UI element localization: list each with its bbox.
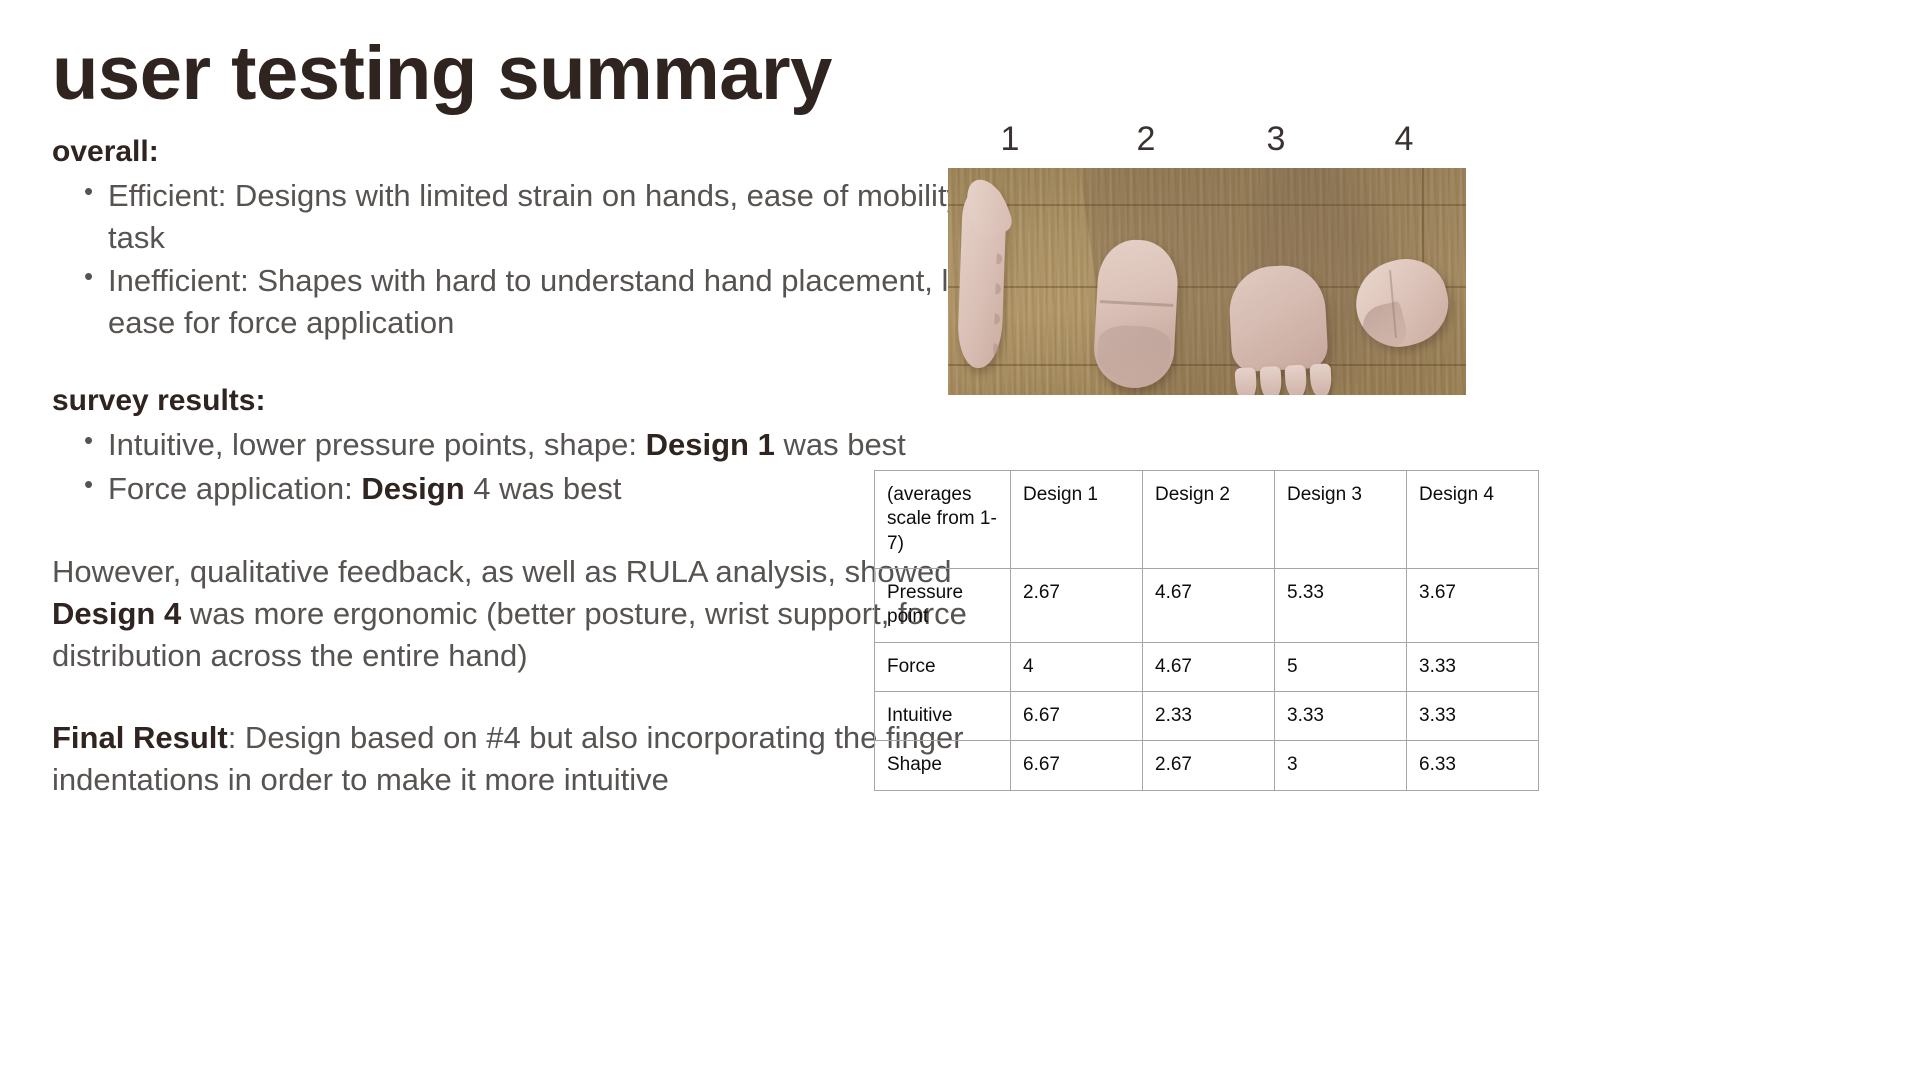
bullet-text-post: 4 was best (465, 471, 622, 506)
cell-value: 3.33 (1275, 691, 1407, 740)
cell-value: 6.67 (1011, 691, 1143, 740)
paragraph-final-result: Final Result: Design based on #4 but als… (52, 717, 1012, 801)
cell-value: 5.33 (1275, 568, 1407, 642)
prototype-shape-3 (1227, 264, 1328, 373)
section-heading-overall: overall: (52, 132, 1052, 171)
cell-value: 3.33 (1407, 691, 1539, 740)
cell-value: 6.33 (1407, 741, 1539, 790)
cell-value: 4.67 (1143, 642, 1275, 691)
final-result-label: Final Result (52, 720, 228, 755)
row-label: Intuitive (875, 691, 1011, 740)
list-item: Intuitive, lower pressure points, shape:… (52, 424, 1048, 466)
cell-value: 4.67 (1143, 568, 1275, 642)
prototype-photo (948, 168, 1466, 395)
section-heading-survey-results: survey results: (52, 381, 1052, 420)
bullet-text-pre: Force application: (108, 471, 361, 506)
list-item: Inefficient: Shapes with hard to underst… (52, 260, 1048, 344)
survey-results-table-wrapper: (averages scale from 1-7) Design 1 Desig… (874, 470, 1538, 791)
bullet-text-post: was best (775, 427, 906, 462)
table-header-design-3: Design 3 (1275, 471, 1407, 569)
bullet-text-emphasis: Design (361, 471, 464, 506)
paragraph-text-emphasis: Design 4 (52, 596, 181, 631)
prototype-number-1: 1 (1001, 120, 1020, 159)
paragraph-however: However, qualitative feedback, as well a… (52, 551, 1012, 677)
table-row: Pressure point 2.67 4.67 5.33 3.67 (875, 568, 1539, 642)
prototype-number-labels: 1 2 3 4 (948, 120, 1468, 168)
bullet-text-emphasis: Design 1 (646, 427, 775, 462)
prototype-photo-block: 1 2 3 4 (948, 120, 1468, 395)
page-title: user testing summary (52, 34, 1052, 114)
table-header-design-4: Design 4 (1407, 471, 1539, 569)
cell-value: 3.67 (1407, 568, 1539, 642)
list-item: Efficient: Designs with limited strain o… (52, 175, 1048, 259)
cell-value: 6.67 (1011, 741, 1143, 790)
cell-value: 3.33 (1407, 642, 1539, 691)
cell-value: 3 (1275, 741, 1407, 790)
cell-value: 5 (1275, 642, 1407, 691)
finger-prongs (1235, 363, 1333, 395)
bullet-text-pre: Intuitive, lower pressure points, shape: (108, 427, 646, 462)
prototype-number-3: 3 (1267, 120, 1286, 159)
table-header-design-2: Design 2 (1143, 471, 1275, 569)
survey-results-table: (averages scale from 1-7) Design 1 Desig… (874, 470, 1539, 791)
row-label: Pressure point (875, 568, 1011, 642)
table-header-design-1: Design 1 (1011, 471, 1143, 569)
prototype-shape-1 (957, 185, 1007, 368)
cell-value: 2.67 (1143, 741, 1275, 790)
row-label: Force (875, 642, 1011, 691)
prototype-number-4: 4 (1395, 120, 1414, 159)
cell-value: 4 (1011, 642, 1143, 691)
paragraph-text-post: was more ergonomic (better posture, wris… (52, 596, 967, 673)
prototype-shape-2 (1092, 238, 1180, 390)
overall-bullet-list: Efficient: Designs with limited strain o… (52, 175, 1052, 345)
table-row: Force 4 4.67 5 3.33 (875, 642, 1539, 691)
table-row: Intuitive 6.67 2.33 3.33 3.33 (875, 691, 1539, 740)
row-label: Shape (875, 741, 1011, 790)
prototype-number-2: 2 (1137, 120, 1156, 159)
cell-value: 2.33 (1143, 691, 1275, 740)
spacer (52, 345, 1052, 381)
table-header-row: (averages scale from 1-7) Design 1 Desig… (875, 471, 1539, 569)
cell-value: 2.67 (1011, 568, 1143, 642)
table-header-scale-note: (averages scale from 1-7) (875, 471, 1011, 569)
table-row: Shape 6.67 2.67 3 6.33 (875, 741, 1539, 790)
paragraph-text-pre: However, qualitative feedback, as well a… (52, 554, 951, 589)
section-overall: overall: Efficient: Designs with limited… (52, 132, 1052, 345)
